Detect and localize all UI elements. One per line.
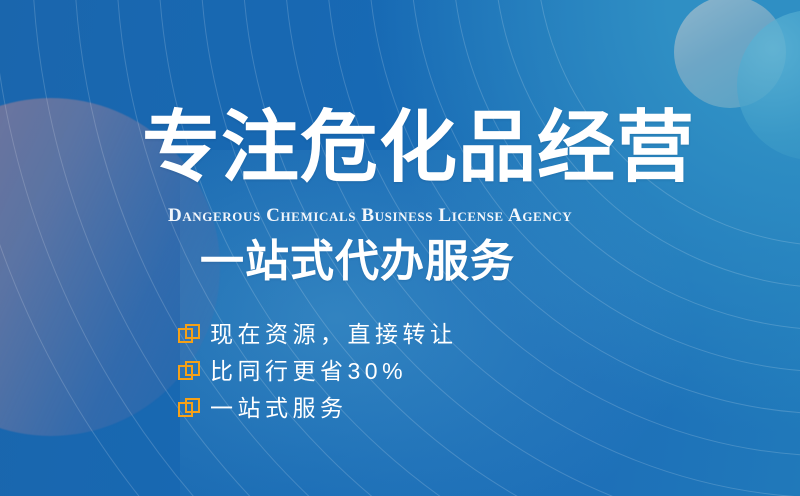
- page-title: 专注危化品经营: [142, 108, 695, 186]
- feature-list: 现在资源，直接转让 比同行更省30% 一站式服务: [178, 316, 458, 427]
- list-item-label: 现在资源，直接转让: [210, 323, 458, 346]
- list-item: 现在资源，直接转让: [178, 316, 458, 353]
- overlapping-squares-icon: [178, 324, 200, 346]
- secondary-title: 一站式代办服务: [200, 240, 515, 284]
- banner-content: 专注危化品经营 Dangerous Chemicals Business Lic…: [142, 0, 702, 496]
- overlapping-squares-icon: [178, 361, 200, 383]
- overlapping-squares-icon: [178, 398, 200, 420]
- list-item: 一站式服务: [178, 390, 458, 427]
- list-item-label: 比同行更省30%: [210, 360, 407, 383]
- list-item-label: 一站式服务: [210, 397, 348, 420]
- promo-banner: 专注危化品经营 Dangerous Chemicals Business Lic…: [0, 0, 800, 496]
- english-subtitle: Dangerous Chemicals Business License Age…: [168, 206, 572, 225]
- list-item: 比同行更省30%: [178, 353, 458, 390]
